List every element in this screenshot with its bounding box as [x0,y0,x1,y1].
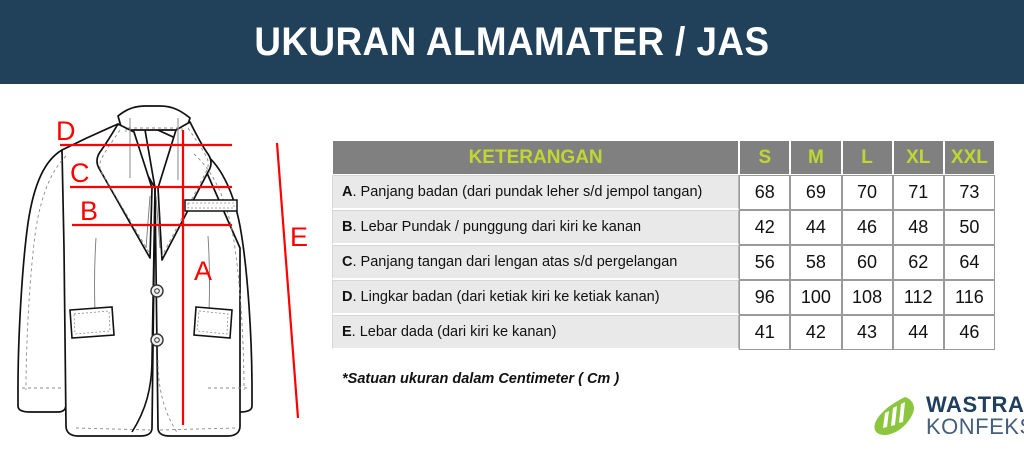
size-table: KETERANGAN S M L XL XXL A. Panjang badan… [332,140,995,350]
row-desc-text: . Lebar Pundak / punggung dari kiri ke k… [352,219,641,235]
cell-l: 43 [842,315,893,350]
jacket-svg: D C B A E [0,88,330,460]
row-description: B. Lebar Pundak / punggung dari kiri ke … [332,210,739,245]
cell-l: 70 [842,175,893,210]
page-title: UKURAN ALMAMATER / JAS [254,20,769,65]
cell-l: 108 [842,280,893,315]
cell-xxl: 73 [944,175,995,210]
cell-xl: 112 [893,280,944,315]
row-desc-text: . Lingkar badan (dari ketiak kiri ke ket… [352,289,659,305]
right-flap-pocket [194,307,232,338]
size-table-wrap: KETERANGAN S M L XL XXL A. Panjang badan… [332,140,995,350]
cell-xxl: 46 [944,315,995,350]
row-letter: B [342,219,352,235]
row-letter: A [342,184,352,200]
column-header-s: S [739,140,790,175]
cell-m: 100 [790,280,841,315]
button-bottom [151,334,163,346]
row-description: C. Panjang tangan dari lengan atas s/d p… [332,245,739,280]
row-letter: E [342,324,352,340]
table-row: D. Lingkar badan (dari ketiak kiri ke ke… [332,280,995,315]
cell-s: 68 [739,175,790,210]
cell-xl: 48 [893,210,944,245]
header-row: KETERANGAN S M L XL XXL [332,140,995,175]
cell-l: 60 [842,245,893,280]
measure-label-e: E [290,222,308,252]
row-description: D. Lingkar badan (dari ketiak kiri ke ke… [332,280,739,315]
row-letter: D [342,289,352,305]
column-header-l: L [842,140,893,175]
table-row: B. Lebar Pundak / punggung dari kiri ke … [332,210,995,245]
logo-line-konfeksi: KONFEKSI [926,416,1024,438]
column-header-m: M [790,140,841,175]
table-row: C. Panjang tangan dari lengan atas s/d p… [332,245,995,280]
cell-s: 41 [739,315,790,350]
row-letter: C [342,254,352,270]
cell-m: 69 [790,175,841,210]
wastra-leaf-icon [872,395,918,437]
size-table-head: KETERANGAN S M L XL XXL [332,140,995,175]
left-flap-pocket [70,307,114,338]
cell-m: 44 [790,210,841,245]
cell-xl: 44 [893,315,944,350]
guide-line-e [277,143,298,418]
cell-l: 46 [842,210,893,245]
measure-label-b: B [80,196,98,226]
cell-s: 56 [739,245,790,280]
button-top [151,285,163,297]
size-table-body: A. Panjang badan (dari pundak leher s/d … [332,175,995,350]
cell-xl: 71 [893,175,944,210]
column-header-xxl: XXL [944,140,995,175]
header-banner: UKURAN ALMAMATER / JAS [0,0,1024,84]
measure-label-c: C [70,158,90,188]
chest-pocket [185,200,237,211]
row-desc-text: . Lebar dada (dari kiri ke kanan) [352,324,557,340]
cell-xxl: 116 [944,280,995,315]
jacket-body-group [18,106,252,436]
brand-logo: WASTRA KONFEKSI [872,392,1014,440]
column-header-xl: XL [893,140,944,175]
jacket-illustration: D C B A E [0,88,330,460]
measure-label-d: D [56,116,76,146]
cell-xxl: 64 [944,245,995,280]
column-header-keterangan: KETERANGAN [332,140,739,175]
cell-m: 42 [790,315,841,350]
cell-s: 96 [739,280,790,315]
cell-xxl: 50 [944,210,995,245]
row-description: E. Lebar dada (dari kiri ke kanan) [332,315,739,350]
logo-wordmark: WASTRA KONFEKSI [926,394,1024,438]
table-row: E. Lebar dada (dari kiri ke kanan) 41 42… [332,315,995,350]
cell-m: 58 [790,245,841,280]
row-desc-text: . Panjang badan (dari pundak leher s/d j… [352,184,702,200]
logo-line-wastra: WASTRA [926,394,1024,416]
measure-label-a: A [194,256,212,286]
table-row: A. Panjang badan (dari pundak leher s/d … [332,175,995,210]
collar-band [118,106,190,130]
size-chart-page: UKURAN ALMAMATER / JAS [0,0,1024,463]
cell-xl: 62 [893,245,944,280]
row-description: A. Panjang badan (dari pundak leher s/d … [332,175,739,210]
cell-s: 42 [739,210,790,245]
unit-footnote: *Satuan ukuran dalam Centimeter ( Cm ) [342,371,619,387]
row-desc-text: . Panjang tangan dari lengan atas s/d pe… [352,254,677,270]
